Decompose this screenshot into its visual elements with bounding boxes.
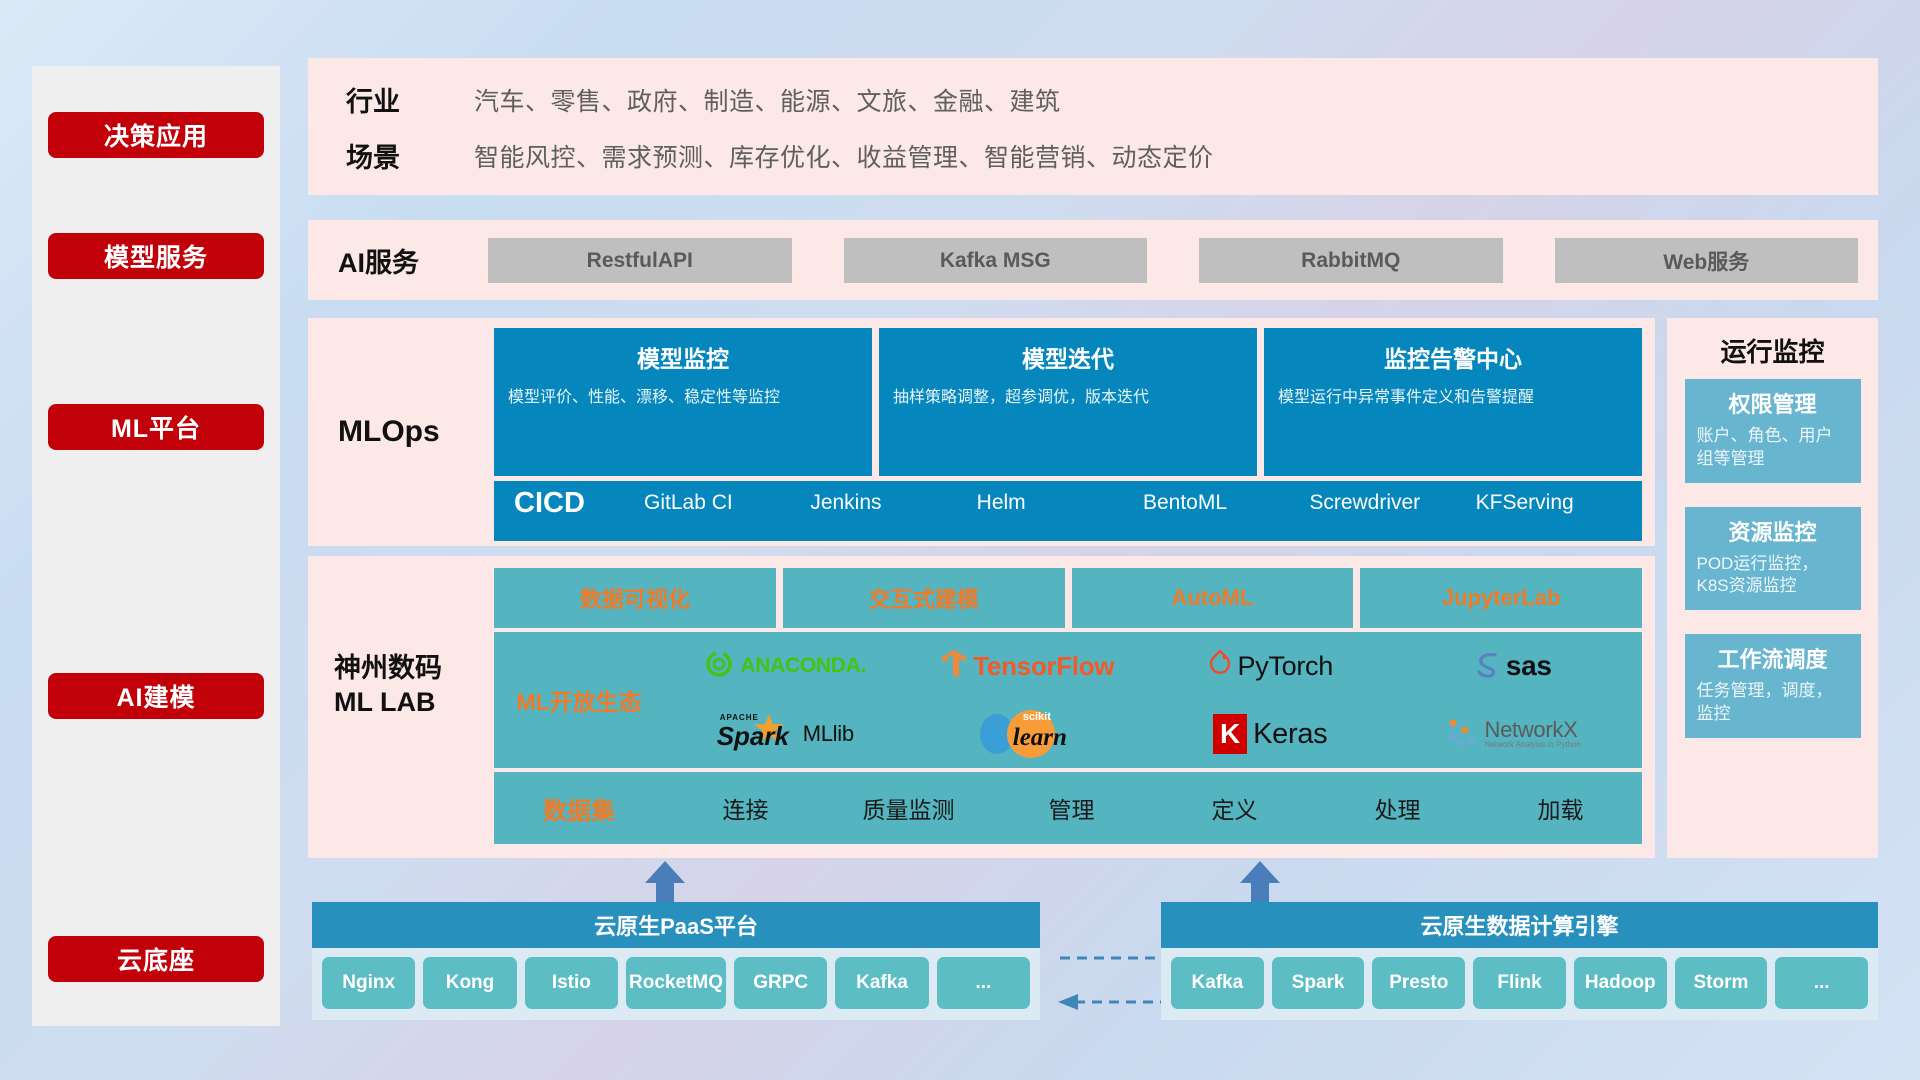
logo-spark-mllib[interactable]: APACHE Spark MLlib [717, 712, 854, 756]
dataset-item-process[interactable]: 处理 [1316, 791, 1479, 825]
stage-chip-ai-modeling[interactable]: AI建模 [48, 673, 264, 719]
cloud-chip-presto[interactable]: Presto [1372, 957, 1465, 1009]
cloud-chip-kafka[interactable]: Kafka [1171, 957, 1264, 1009]
mlops-card-title: 监控告警中心 [1278, 340, 1628, 374]
monitor-card-desc: POD运行监控，K8S资源监控 [1697, 553, 1849, 599]
tab-data-visualization[interactable]: 数据可视化 [494, 568, 776, 628]
mlops-card-desc: 模型评价、性能、漂移、稳定性等监控 [508, 387, 858, 410]
tab-automl[interactable]: AutoML [1072, 568, 1354, 628]
mlops-card-model-monitoring[interactable]: 模型监控 模型评价、性能、漂移、稳定性等监控 [494, 328, 872, 476]
mlops-card-desc: 抽样策略调整，超参调优，版本迭代 [893, 387, 1243, 410]
runtime-monitor-title: 运行监控 [1667, 318, 1878, 379]
cloud-chip-more[interactable]: ... [937, 957, 1030, 1009]
cicd-item-gitlab-ci[interactable]: GitLab CI [644, 491, 810, 516]
stage-chip-ml-platform[interactable]: ML平台 [48, 404, 264, 450]
stage-chip-cloud-base[interactable]: 云底座 [48, 936, 264, 982]
cicd-item-bentoml[interactable]: BentoML [1143, 491, 1309, 516]
business-band: 行业 汽车、零售、政府、制造、能源、文旅、金融、建筑 场景 智能风控、需求预测、… [308, 58, 1878, 195]
cloud-paas-chip-list: Nginx Kong Istio RocketMQ GRPC Kafka ... [312, 948, 1040, 1020]
dataset-item-manage[interactable]: 管理 [990, 791, 1153, 825]
pytorch-icon [1208, 649, 1232, 684]
cicd-title: CICD [514, 481, 644, 520]
dataset-item-quality[interactable]: 质量监测 [827, 791, 990, 825]
industry-row: 行业 汽车、零售、政府、制造、能源、文旅、金融、建筑 [346, 80, 1061, 119]
cloud-chip-spark[interactable]: Spark [1272, 957, 1365, 1009]
cloud-chip-kong[interactable]: Kong [423, 957, 516, 1009]
monitor-card-workflow[interactable]: 工作流调度 任务管理，调度，监控 [1685, 634, 1861, 738]
dataset-bar: 数据集 连接 质量监测 管理 定义 处理 加载 [494, 772, 1642, 844]
cicd-item-screwdriver[interactable]: Screwdriver [1309, 491, 1475, 516]
keras-wordmark: Keras [1253, 718, 1327, 751]
logo-networkx[interactable]: NetworkX Network Analysis in Python [1445, 715, 1582, 754]
cloud-chip-rocketmq[interactable]: RocketMQ [626, 957, 726, 1009]
monitor-card-title: 资源监控 [1697, 515, 1849, 547]
cloud-chip-flink[interactable]: Flink [1473, 957, 1566, 1009]
spark-icon: APACHE Spark [717, 712, 791, 756]
cicd-item-kfserving[interactable]: KFServing [1476, 491, 1642, 516]
cloud-data-engine-block: 云原生数据计算引擎 Kafka Spark Presto Flink Hadoo… [1161, 902, 1878, 1020]
ml-ecosystem-box: ML开放生态 ANACONDA. TensorFlow [494, 632, 1642, 768]
mlops-card-desc: 模型运行中异常事件定义和告警提醒 [1278, 387, 1628, 410]
monitor-card-resource[interactable]: 资源监控 POD运行监控，K8S资源监控 [1685, 507, 1861, 611]
ml-lab-label-line1: 神州数码 [334, 652, 484, 686]
cloud-data-engine-chip-list: Kafka Spark Presto Flink Hadoop Storm ..… [1161, 948, 1878, 1020]
logo-keras[interactable]: K Keras [1213, 714, 1327, 754]
ai-chip-rabbitmq[interactable]: RabbitMQ [1199, 238, 1503, 283]
dataset-item-load[interactable]: 加载 [1479, 791, 1642, 825]
mlops-band: MLOps 模型监控 模型评价、性能、漂移、稳定性等监控 模型迭代 抽样策略调整… [308, 318, 1655, 546]
logo-anaconda[interactable]: ANACONDA. [704, 649, 866, 684]
cloud-chip-nginx[interactable]: Nginx [322, 957, 415, 1009]
ai-chip-restfulapi[interactable]: RestfulAPI [488, 238, 792, 283]
logo-pytorch[interactable]: PyTorch [1208, 649, 1333, 684]
monitor-card-permission[interactable]: 权限管理 账户、角色、用户组等管理 [1685, 379, 1861, 483]
architecture-diagram: 决策应用 模型服务 ML平台 AI建模 云底座 行业 汽车、零售、政府、制造、能… [0, 0, 1920, 1080]
cicd-bar: CICD GitLab CI Jenkins Helm BentoML Scre… [494, 481, 1642, 541]
cloud-chip-storm[interactable]: Storm [1675, 957, 1768, 1009]
pytorch-wordmark: PyTorch [1238, 651, 1333, 682]
cicd-item-jenkins[interactable]: Jenkins [810, 491, 976, 516]
networkx-tagline: Network Analysis in Python [1485, 741, 1582, 749]
ml-lab-label: 神州数码 ML LAB [334, 652, 484, 720]
ai-service-band: AI服务 RestfulAPI Kafka MSG RabbitMQ Web服务 [308, 220, 1878, 300]
scikit-learn-icon: scikit learn [973, 708, 1083, 760]
anaconda-wordmark: ANACONDA. [740, 654, 866, 678]
sas-wordmark: sas [1506, 650, 1552, 682]
monitor-card-title: 权限管理 [1697, 387, 1849, 419]
dataset-label: 数据集 [494, 791, 664, 826]
ml-lab-label-line2: ML LAB [334, 686, 484, 720]
tab-jupyterlab[interactable]: JupyterLab [1360, 568, 1642, 628]
tensorflow-icon [941, 649, 967, 684]
mlops-card-title: 模型迭代 [893, 340, 1243, 374]
ml-ecosystem-label: ML开放生态 [494, 683, 664, 717]
anaconda-icon [704, 649, 734, 684]
ai-chip-web-service[interactable]: Web服务 [1555, 238, 1859, 283]
stage-chip-model-service[interactable]: 模型服务 [48, 233, 264, 279]
stage-rail [32, 66, 280, 1026]
ai-service-label: AI服务 [338, 220, 419, 300]
runtime-monitor-band: 运行监控 权限管理 账户、角色、用户组等管理 资源监控 POD运行监控，K8S资… [1667, 318, 1878, 858]
cloud-chip-more[interactable]: ... [1775, 957, 1868, 1009]
cicd-item-list: GitLab CI Jenkins Helm BentoML Screwdriv… [644, 481, 1642, 516]
ml-ecosystem-logo-grid: ANACONDA. TensorFlow PyTorch [664, 632, 1642, 768]
scenario-label: 场景 [346, 136, 474, 175]
ml-lab-band: 神州数码 ML LAB 数据可视化 交互式建模 AutoML JupyterLa… [308, 556, 1655, 858]
mlops-label: MLOps [338, 318, 488, 546]
networkx-icon [1445, 715, 1479, 754]
mlops-card-model-iteration[interactable]: 模型迭代 抽样策略调整，超参调优，版本迭代 [879, 328, 1257, 476]
logo-scikit-learn[interactable]: scikit learn [973, 708, 1083, 760]
ml-lab-tab-list: 数据可视化 交互式建模 AutoML JupyterLab [494, 568, 1642, 628]
cloud-chip-hadoop[interactable]: Hadoop [1574, 957, 1667, 1009]
cicd-item-helm[interactable]: Helm [977, 491, 1143, 516]
cloud-data-engine-title: 云原生数据计算引擎 [1161, 902, 1878, 948]
tensorflow-wordmark: TensorFlow [973, 651, 1114, 682]
mlops-card-list: 模型监控 模型评价、性能、漂移、稳定性等监控 模型迭代 抽样策略调整，超参调优，… [494, 328, 1642, 476]
cloud-paas-title: 云原生PaaS平台 [312, 902, 1040, 948]
mllib-wordmark: MLlib [803, 721, 854, 747]
monitor-card-title: 工作流调度 [1697, 642, 1849, 674]
logo-sas[interactable]: sas [1474, 650, 1552, 683]
networkx-wordmark: NetworkX [1485, 718, 1582, 741]
mlops-card-title: 模型监控 [508, 340, 858, 374]
logo-tensorflow[interactable]: TensorFlow [941, 649, 1114, 684]
cloud-paas-block: 云原生PaaS平台 Nginx Kong Istio RocketMQ GRPC… [312, 902, 1040, 1020]
sas-icon [1474, 650, 1500, 683]
mlops-card-alert-center[interactable]: 监控告警中心 模型运行中异常事件定义和告警提醒 [1264, 328, 1642, 476]
tab-interactive-modeling[interactable]: 交互式建模 [783, 568, 1065, 628]
scenario-value: 智能风控、需求预测、库存优化、收益管理、智能营销、动态定价 [474, 138, 1214, 174]
industry-label: 行业 [346, 80, 474, 119]
ai-chip-kafka-msg[interactable]: Kafka MSG [844, 238, 1148, 283]
stage-chip-decision[interactable]: 决策应用 [48, 112, 264, 158]
dataset-item-list: 连接 质量监测 管理 定义 处理 加载 [664, 791, 1642, 825]
cloud-chip-kafka[interactable]: Kafka [835, 957, 928, 1009]
keras-icon: K [1213, 714, 1247, 754]
cloud-chip-grpc[interactable]: GRPC [734, 957, 827, 1009]
dataset-item-define[interactable]: 定义 [1153, 791, 1316, 825]
industry-value: 汽车、零售、政府、制造、能源、文旅、金融、建筑 [474, 82, 1061, 118]
scenario-row: 场景 智能风控、需求预测、库存优化、收益管理、智能营销、动态定价 [346, 136, 1214, 175]
ai-service-chip-list: RestfulAPI Kafka MSG RabbitMQ Web服务 [488, 238, 1858, 283]
monitor-card-desc: 任务管理，调度，监控 [1697, 680, 1849, 726]
cloud-chip-istio[interactable]: Istio [525, 957, 618, 1009]
dataset-item-connect[interactable]: 连接 [664, 791, 827, 825]
monitor-card-desc: 账户、角色、用户组等管理 [1697, 425, 1849, 471]
